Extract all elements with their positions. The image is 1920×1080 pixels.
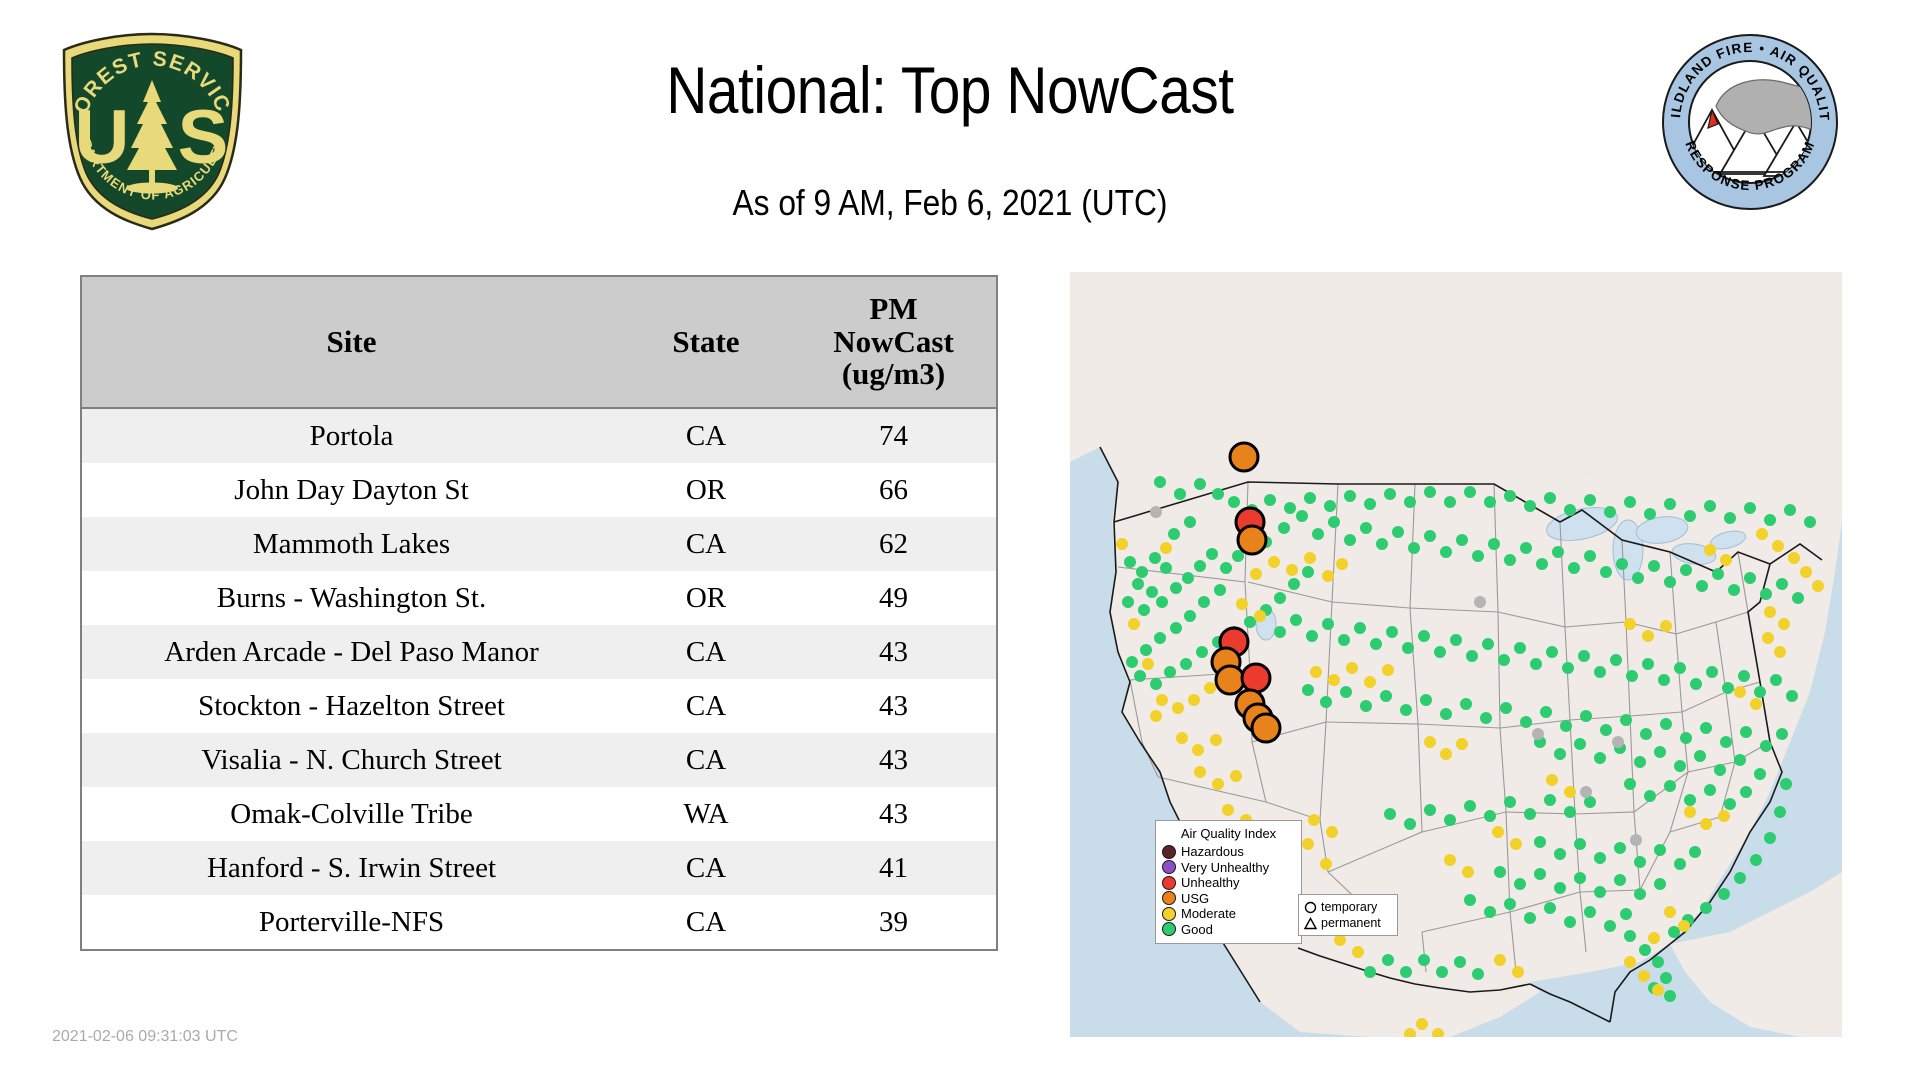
aqi-swatch-moderate — [1162, 907, 1176, 921]
cell-pm: 43 — [791, 625, 997, 679]
aqi-legend-title: Air Quality Index — [1162, 826, 1295, 841]
footer-timestamp: 2021-02-06 09:31:03 UTC — [52, 1028, 238, 1046]
page-header: FOREST SERVICE DEPARTMENT OF AGRICULTURE… — [0, 0, 1920, 260]
aqi-legend-item-very-unhealthy: Very Unhealthy — [1162, 860, 1295, 876]
table-row: Stockton - Hazelton Street CA 43 — [81, 679, 997, 733]
cell-pm: 49 — [791, 571, 997, 625]
aqi-legend-item-good: Good — [1162, 922, 1295, 938]
table-row: Hanford - S. Irwin Street CA 41 — [81, 841, 997, 895]
cell-state: CA — [621, 733, 791, 787]
circle-icon — [1304, 901, 1317, 914]
page-subtitle: As of 9 AM, Feb 6, 2021 (UTC) — [343, 182, 1557, 224]
aqi-swatch-hazardous — [1162, 845, 1176, 859]
aqi-swatch-usg — [1162, 891, 1176, 905]
pm-line-1: PM — [795, 293, 992, 326]
top-nowcast-table: Site State PM NowCast (ug/m3) Portola CA… — [80, 275, 998, 951]
cell-state: OR — [621, 463, 791, 517]
wfaqrp-badge-logo: WILDLAND FIRE • AIR QUALITY RESPONSE PRO… — [1660, 32, 1840, 212]
column-header-site-label: Site — [327, 324, 377, 359]
cell-site: Portola — [81, 408, 621, 463]
cell-site: Visalia - N. Church Street — [81, 733, 621, 787]
triangle-icon — [1304, 917, 1317, 930]
site-type-item-permanent: permanent — [1304, 915, 1392, 931]
cell-pm: 43 — [791, 787, 997, 841]
cell-pm: 66 — [791, 463, 997, 517]
site-type-item-temporary: temporary — [1304, 899, 1392, 915]
table-header-row: Site State PM NowCast (ug/m3) — [81, 276, 997, 408]
cell-site: Mammoth Lakes — [81, 517, 621, 571]
cell-state: CA — [621, 408, 791, 463]
cell-site: Burns - Washington St. — [81, 571, 621, 625]
cell-state: WA — [621, 787, 791, 841]
cell-site: Stockton - Hazelton Street — [81, 679, 621, 733]
table-row: Visalia - N. Church Street CA 43 — [81, 733, 997, 787]
aqi-label-usg: USG — [1181, 891, 1209, 906]
column-header-pm-nowcast: PM NowCast (ug/m3) — [791, 276, 997, 408]
table-row: Omak-Colville Tribe WA 43 — [81, 787, 997, 841]
site-type-label-permanent: permanent — [1321, 916, 1381, 930]
aqi-legend-item-hazardous: Hazardous — [1162, 844, 1295, 860]
column-header-state: State — [621, 276, 791, 408]
table-row: John Day Dayton St OR 66 — [81, 463, 997, 517]
cell-site: Hanford - S. Irwin Street — [81, 841, 621, 895]
svg-text:S: S — [178, 95, 229, 180]
aqi-label-very-unhealthy: Very Unhealthy — [1181, 860, 1269, 875]
cell-pm: 43 — [791, 679, 997, 733]
cell-pm: 62 — [791, 517, 997, 571]
cell-site: John Day Dayton St — [81, 463, 621, 517]
aqi-legend-item-usg: USG — [1162, 891, 1295, 907]
aqi-legend-item-moderate: Moderate — [1162, 906, 1295, 922]
site-type-legend: temporary permanent — [1298, 894, 1398, 936]
cell-state: CA — [621, 625, 791, 679]
page-title: National: Top NowCast — [357, 52, 1544, 128]
aqi-label-moderate: Moderate — [1181, 906, 1236, 921]
table-row: Burns - Washington St. OR 49 — [81, 571, 997, 625]
pm-line-2: NowCast — [795, 326, 992, 359]
cell-state: CA — [621, 841, 791, 895]
site-type-label-temporary: temporary — [1321, 900, 1377, 914]
cell-state: CA — [621, 679, 791, 733]
pm-line-3: (ug/m3) — [795, 358, 992, 391]
aqi-swatch-good — [1162, 922, 1176, 936]
cell-pm: 39 — [791, 895, 997, 950]
aqi-label-hazardous: Hazardous — [1181, 844, 1244, 859]
cell-pm: 74 — [791, 408, 997, 463]
table-row: Porterville-NFS CA 39 — [81, 895, 997, 950]
cell-pm: 41 — [791, 841, 997, 895]
svg-text:U: U — [75, 95, 130, 180]
aqi-swatch-unhealthy — [1162, 876, 1176, 890]
cell-pm: 43 — [791, 733, 997, 787]
table-row: Arden Arcade - Del Paso Manor CA 43 — [81, 625, 997, 679]
aqi-swatch-very-unhealthy — [1162, 860, 1176, 874]
table-row: Portola CA 74 — [81, 408, 997, 463]
top-nowcast-table-container: Site State PM NowCast (ug/m3) Portola CA… — [80, 275, 996, 951]
usfs-shield-logo: FOREST SERVICE DEPARTMENT OF AGRICULTURE… — [55, 28, 250, 228]
cell-state: CA — [621, 517, 791, 571]
aqi-legend-item-unhealthy: Unhealthy — [1162, 875, 1295, 891]
air-quality-map[interactable]: Air Quality Index Hazardous Very Unhealt… — [1070, 272, 1842, 1037]
aqi-label-unhealthy: Unhealthy — [1181, 875, 1240, 890]
table-head: Site State PM NowCast (ug/m3) — [81, 276, 997, 408]
cell-site: Omak-Colville Tribe — [81, 787, 621, 841]
aqi-legend: Air Quality Index Hazardous Very Unhealt… — [1155, 820, 1302, 944]
cell-site: Porterville-NFS — [81, 895, 621, 950]
table-row: Mammoth Lakes CA 62 — [81, 517, 997, 571]
cell-site: Arden Arcade - Del Paso Manor — [81, 625, 621, 679]
cell-state: CA — [621, 895, 791, 950]
table-body: Portola CA 74 John Day Dayton St OR 66 M… — [81, 408, 997, 950]
cell-state: OR — [621, 571, 791, 625]
column-header-state-label: State — [672, 324, 739, 359]
column-header-site: Site — [81, 276, 621, 408]
aqi-label-good: Good — [1181, 922, 1213, 937]
